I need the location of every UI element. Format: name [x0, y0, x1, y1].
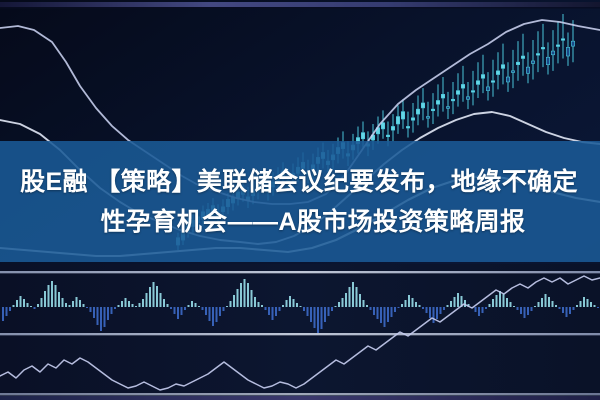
panel-divider-middle-shadow: [0, 335, 600, 336]
panel-divider-middle: [0, 333, 600, 335]
banner-title-line-2: 性孕育机会——A股市场投资策略周报: [101, 202, 526, 242]
top-rule: [0, 2, 600, 7]
top-rule-shadow: [0, 7, 600, 9]
bottom-rule: [0, 396, 600, 400]
panel-divider-top-shadow: [0, 273, 600, 274]
panel-divider-top: [0, 271, 600, 273]
banner-image: 股E融 【策略】美联储会议纪要发布，地缘不确定 性孕育机会——A股市场投资策略周…: [0, 0, 600, 400]
lower-panels-background: [0, 264, 600, 400]
banner-title: 股E融 【策略】美联储会议纪要发布，地缘不确定 性孕育机会——A股市场投资策略周…: [0, 141, 600, 262]
banner-title-line-1: 股E融 【策略】美联储会议纪要发布，地缘不确定: [20, 162, 578, 202]
panel-divider-bottom: [0, 393, 600, 395]
